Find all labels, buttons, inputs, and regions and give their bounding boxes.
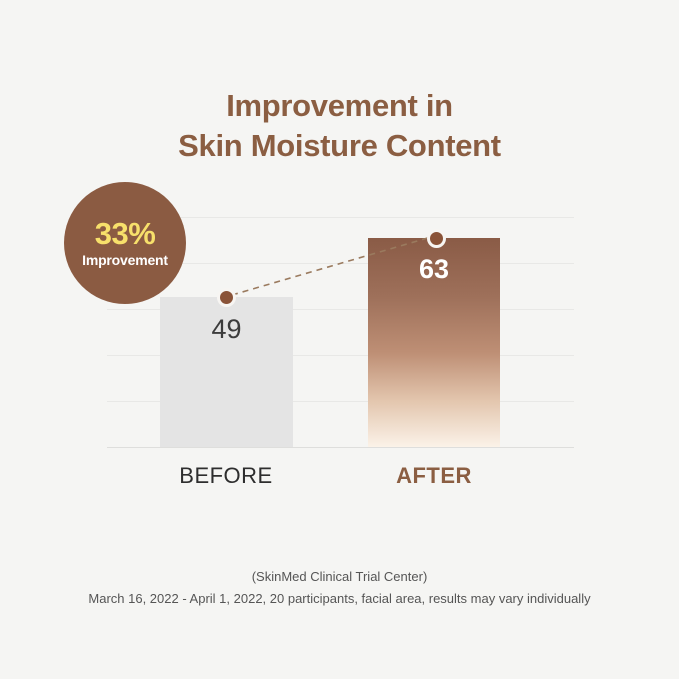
- category-label-after: AFTER: [344, 463, 524, 489]
- category-label-before: BEFORE: [136, 463, 316, 489]
- badge-label: Improvement: [82, 251, 168, 269]
- footnote-block: (SkinMed Clinical Trial Center) March 16…: [0, 566, 679, 610]
- data-point-marker-before[interactable]: [217, 288, 236, 307]
- badge-percent: 33%: [95, 218, 156, 250]
- bar-value-before: 49: [160, 314, 293, 345]
- footnote-details: March 16, 2022 - April 1, 2022, 20 parti…: [0, 588, 679, 610]
- bar-before[interactable]: 49: [160, 297, 293, 447]
- footnote-source: (SkinMed Clinical Trial Center): [0, 566, 679, 588]
- data-point-marker-after[interactable]: [427, 229, 446, 248]
- gridline-baseline: [107, 447, 574, 448]
- bar-after[interactable]: 63: [368, 238, 500, 447]
- chart-canvas: Improvement in Skin Moisture Content 49 …: [0, 0, 679, 679]
- improvement-badge: 33% Improvement: [64, 182, 186, 304]
- bar-value-after: 63: [368, 254, 500, 285]
